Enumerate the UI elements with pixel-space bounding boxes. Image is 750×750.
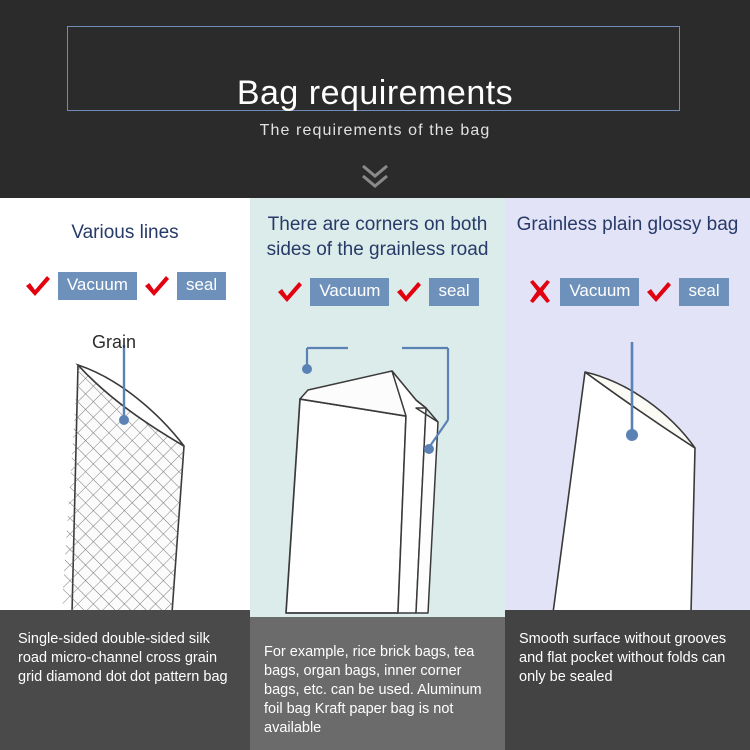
- infographic-page: Bag requirements The requirements of the…: [0, 0, 750, 750]
- cross-mark-icon: [526, 279, 554, 305]
- caption-bars: Single-sided double-sided silk road micr…: [0, 610, 750, 750]
- caption-corners-both-sides: For example, rice brick bags, tea bags, …: [250, 617, 505, 750]
- bag-illustration-grain: [0, 308, 250, 628]
- bag-illustration-plain: [505, 308, 750, 628]
- caption-various-lines: Single-sided double-sided silk road micr…: [0, 610, 250, 750]
- badge-seal: seal: [679, 278, 728, 306]
- badge-vacuum: Vacuum: [310, 278, 389, 306]
- header-banner: Bag requirements The requirements of the…: [0, 0, 750, 198]
- column-heading: Grainless plain glossy bag: [505, 212, 750, 237]
- page-subtitle: The requirements of the bag: [0, 122, 750, 140]
- badge-seal: seal: [177, 272, 226, 300]
- badge-row: Vacuum seal: [250, 278, 505, 306]
- check-mark-icon: [24, 273, 52, 299]
- page-title: Bag requirements: [0, 76, 750, 110]
- caption-grainless-glossy: Smooth surface without grooves and flat …: [505, 610, 750, 750]
- badge-row: Vacuum seal: [0, 272, 250, 300]
- chevron-double-down-icon: [355, 162, 395, 192]
- badge-vacuum: Vacuum: [560, 278, 639, 306]
- check-mark-icon: [645, 279, 673, 305]
- badge-vacuum: Vacuum: [58, 272, 137, 300]
- badge-row: Vacuum seal: [505, 278, 750, 306]
- badge-seal: seal: [429, 278, 478, 306]
- column-heading: Various lines: [0, 220, 250, 245]
- check-mark-icon: [143, 273, 171, 299]
- annotation-grain: Grain: [92, 332, 136, 353]
- check-mark-icon: [395, 279, 423, 305]
- bag-illustration-gusset: [250, 308, 505, 628]
- column-heading: There are corners on both sides of the g…: [250, 212, 505, 262]
- check-mark-icon: [276, 279, 304, 305]
